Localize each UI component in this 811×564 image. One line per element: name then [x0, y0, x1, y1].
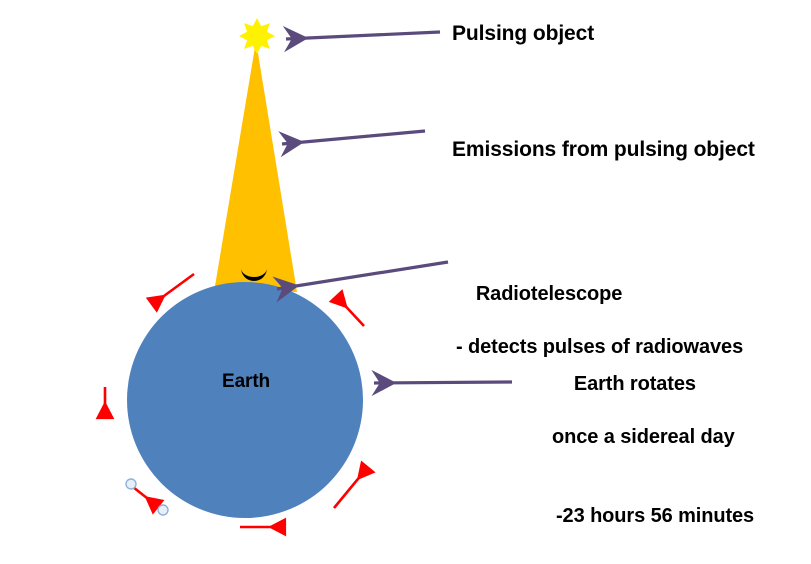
- pointer-arrow-pulsing-object: [286, 32, 440, 39]
- rotation-arrow-handles: [133, 487, 157, 506]
- pulsing-object-star: [239, 18, 275, 54]
- label-earth-rotates: Earth rotates once a sidereal day -23 ho…: [552, 345, 754, 564]
- label-earth-rotates-line1: Earth rotates: [574, 373, 696, 395]
- pointer-arrow-emissions: [282, 131, 425, 144]
- rotation-arrow-top-right: [337, 297, 364, 326]
- label-emissions: Emissions from pulsing object: [452, 136, 755, 164]
- label-earth-rotates-line3: -23 hours 56 minutes: [556, 503, 754, 529]
- earth-circle: [127, 282, 363, 518]
- label-earth-rotates-line2: once a sidereal day: [552, 424, 754, 450]
- selection-handle-end[interactable]: [158, 505, 168, 515]
- label-earth-body: Earth: [222, 369, 270, 394]
- pointer-arrow-radiotelescope: [277, 262, 448, 289]
- selection-handle-start[interactable]: [126, 479, 136, 489]
- rotation-arrow-bottom-right: [334, 468, 367, 508]
- label-radiotelescope-line1: Radiotelescope: [476, 283, 622, 305]
- emission-cone: [214, 41, 297, 292]
- label-pulsing-object: Pulsing object: [452, 20, 594, 48]
- diagram-stage: Pulsing object Emissions from pulsing ob…: [0, 0, 811, 564]
